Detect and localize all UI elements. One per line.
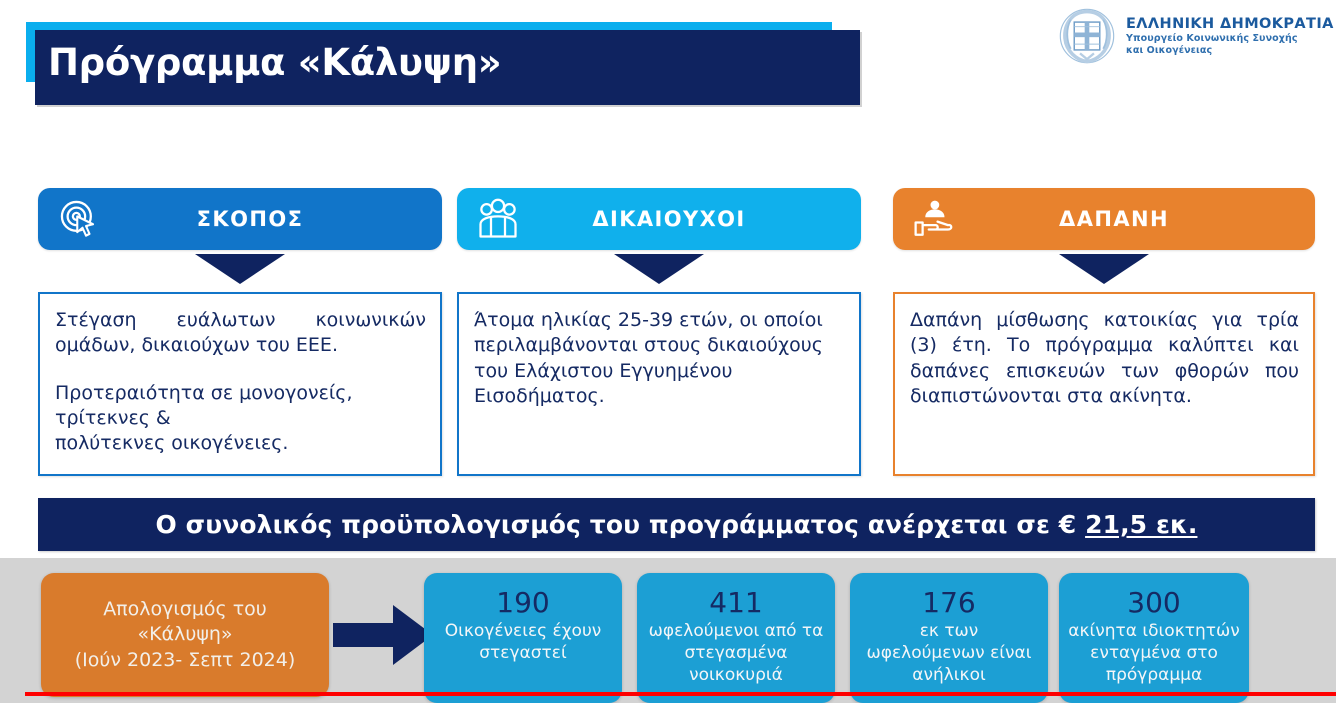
column-label-purpose: ΣΚΟΠΟΣ: [114, 207, 442, 231]
budget-banner: Ο συνολικός προϋπολογισμός του προγράμμα…: [38, 498, 1315, 551]
stat-label-beneficiaries: ωφελούμενοι από τα στεγασμένα νοικοκυριά: [645, 621, 827, 686]
stat-value-beneficiaries: 411: [645, 587, 827, 619]
stat-label-properties: ακίνητα ιδιοκτητών ενταγμένα στο πρόγραμ…: [1067, 621, 1241, 686]
target-cursor-icon: [38, 198, 114, 240]
beneficiaries-text-1: Άτομα ηλικίας 25-39 ετών, οι οποίοι περι…: [474, 308, 845, 409]
column-label-beneficiaries: ΔΙΚΑΙΟΥΧΟΙ: [533, 207, 861, 231]
panel-expense: Δαπάνη μίσθωσης κατοικίας για τρία (3) έ…: [893, 292, 1315, 476]
purpose-text-1: Στέγαση ευάλωτων κοινωνικών ομάδων, δικα…: [55, 308, 426, 359]
stat-value-minors: 176: [858, 587, 1040, 619]
stat-value-families: 190: [432, 587, 614, 619]
budget-prefix: Ο συνολικός προϋπολογισμός του προγράμμα…: [156, 510, 1086, 539]
recap-line-2: «Κάλυψη»: [137, 622, 232, 647]
stat-card-minors: 176 εκ των ωφελούμενων είναι ανήλικοι: [850, 573, 1048, 703]
recap-line-1: Απολογισμός του: [103, 597, 267, 622]
stat-label-minors: εκ των ωφελούμενων είναι ανήλικοι: [858, 621, 1040, 686]
budget-text: Ο συνολικός προϋπολογισμός του προγράμμα…: [156, 510, 1198, 539]
ministry-sub-1: Υπουργείο Κοινωνικής Συνοχής: [1126, 33, 1334, 44]
expense-text-1: Δαπάνη μίσθωσης κατοικίας για τρία (3) έ…: [910, 308, 1299, 409]
ministry-logo: ΕΛΛΗΝΙΚΗ ΔΗΜΟΚΡΑΤΙΑ Υπουργείο Κοινωνικής…: [1058, 7, 1334, 65]
column-expense: ΔΑΠΑΝΗ Δαπάνη μίσθωσης κατοικίας για τρί…: [893, 188, 1315, 476]
stat-card-beneficiaries: 411 ωφελούμενοι από τα στεγασμένα νοικοκ…: [637, 573, 835, 703]
purpose-text-2: Προτεραιότητα σε μονογονείς, τρίτεκνες &…: [55, 381, 426, 457]
ministry-logo-text: ΕΛΛΗΝΙΚΗ ΔΗΜΟΚΡΑΤΙΑ Υπουργείο Κοινωνικής…: [1126, 16, 1334, 56]
greek-coat-of-arms-icon: [1058, 7, 1116, 65]
column-header-beneficiaries[interactable]: ΔΙΚΑΙΟΥΧΟΙ: [457, 188, 861, 250]
stat-card-properties: 300 ακίνητα ιδιοκτητών ενταγμένα στο πρό…: [1059, 573, 1249, 703]
ministry-name: ΕΛΛΗΝΙΚΗ ΔΗΜΟΚΡΑΤΙΑ: [1126, 16, 1334, 33]
stat-value-properties: 300: [1067, 587, 1241, 619]
chevron-down-icon-expense: [893, 254, 1315, 286]
chevron-down-icon-purpose: [38, 254, 442, 286]
column-header-expense[interactable]: ΔΑΠΑΝΗ: [893, 188, 1315, 250]
right-arrow-icon: [331, 601, 435, 669]
stat-card-families: 190 Οικογένειες έχουν στεγαστεί: [424, 573, 622, 703]
panel-beneficiaries: Άτομα ηλικίας 25-39 ετών, οι οποίοι περι…: [457, 292, 861, 476]
column-label-expense: ΔΑΠΑΝΗ: [969, 207, 1315, 231]
column-header-purpose[interactable]: ΣΚΟΠΟΣ: [38, 188, 442, 250]
ministry-sub-2: και Οικογένειας: [1126, 45, 1334, 56]
page-title: Πρόγραμμα «Κάλυψη»: [48, 41, 848, 84]
recap-box: Απολογισμός του «Κάλυψη» (Ιούν 2023- Σεπ…: [41, 573, 329, 697]
column-beneficiaries: ΔΙΚΑΙΟΥΧΟΙ Άτομα ηλικίας 25-39 ετών, οι …: [457, 188, 861, 476]
stat-label-families: Οικογένειες έχουν στεγαστεί: [432, 621, 614, 665]
hand-holding-person-icon: [893, 198, 969, 240]
family-group-icon: [457, 198, 533, 240]
slide-canvas: Πρόγραμμα «Κάλυψη» ΕΛΛΗΝΙΚΗ ΔΗΜΟΚΡΑΤΙΑ Υ…: [0, 0, 1336, 703]
column-purpose: ΣΚΟΠΟΣ Στέγαση ευάλωτων κοινωνικών ομάδω…: [38, 188, 442, 476]
chevron-down-icon-beneficiaries: [457, 254, 861, 286]
budget-amount: 21,5 εκ.: [1085, 510, 1197, 539]
recap-line-3: (Ιούν 2023- Σεπτ 2024): [75, 648, 296, 673]
red-underline-rule: [25, 692, 1336, 696]
panel-purpose: Στέγαση ευάλωτων κοινωνικών ομάδων, δικα…: [38, 292, 442, 476]
